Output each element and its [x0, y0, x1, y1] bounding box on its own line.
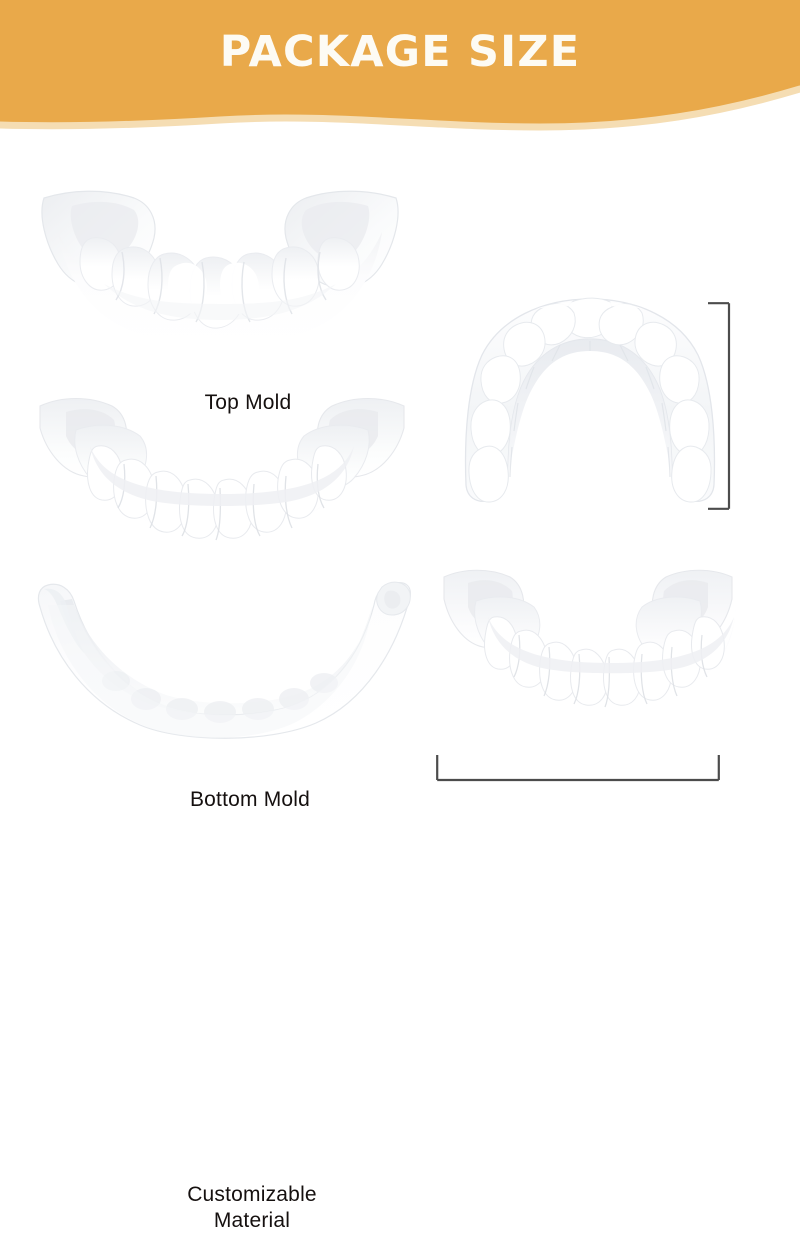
height-dimension-bracket	[708, 302, 732, 510]
header-banner: PACKAGE SIZE	[0, 0, 800, 140]
width-dimension-bracket	[436, 755, 720, 783]
customizable-material-image	[30, 575, 420, 750]
product-item-top-mold: Top Mold	[30, 180, 420, 380]
top-mold-image	[30, 180, 410, 360]
product-item-bottom-mold: Bottom Mold	[32, 390, 422, 580]
product-item-customizable-material: Customizable Material	[30, 575, 430, 790]
bottom-mold-label: Bottom Mold	[150, 787, 350, 813]
content-area: Top Mold	[0, 140, 800, 800]
page-title: PACKAGE SIZE	[0, 27, 800, 77]
bottom-mold-image	[32, 390, 412, 550]
dimension-item-width: 5.5cm/2.16inch	[430, 565, 760, 780]
upper-denture-occlusal-image	[440, 295, 740, 510]
dimension-item-height: 3.9cm/1.5inch	[440, 295, 770, 525]
customizable-material-label: Customizable Material	[142, 1182, 362, 1234]
lower-denture-width-image	[438, 565, 738, 725]
